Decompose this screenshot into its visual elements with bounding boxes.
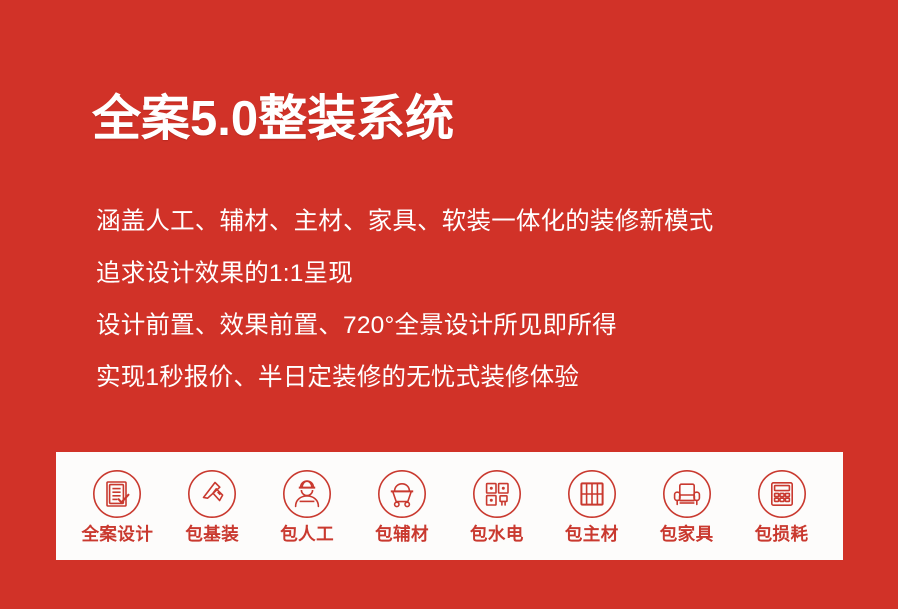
calculator-icon [756, 468, 808, 520]
feature-label: 包家具 [660, 524, 714, 544]
worker-helmet-icon [281, 468, 333, 520]
feature-item-wastage[interactable]: 包损耗 [734, 452, 829, 560]
hero-line-2: 追求设计效果的1:1呈现 [96, 248, 836, 300]
feature-label: 全案设计 [81, 524, 153, 544]
feature-item-base-decoration[interactable]: 包基装 [165, 452, 260, 560]
feature-item-full-design[interactable]: 全案设计 [70, 452, 165, 560]
feature-item-auxiliary-materials[interactable]: 包辅材 [355, 452, 450, 560]
feature-label: 包水电 [470, 524, 524, 544]
feature-label: 包损耗 [755, 524, 809, 544]
trowel-icon [186, 468, 238, 520]
feature-item-furniture[interactable]: 包家具 [639, 452, 734, 560]
feature-label: 包辅材 [375, 524, 429, 544]
hero-line-1: 涵盖人工、辅材、主材、家具、软装一体化的装修新模式 [96, 196, 836, 248]
armchair-icon [661, 468, 713, 520]
feature-label: 包基装 [185, 524, 239, 544]
hero-line-4: 实现1秒报价、半日定装修的无忧式装修体验 [96, 352, 836, 404]
material-cart-icon [376, 468, 428, 520]
feature-strip: 全案设计 包基装 [56, 452, 843, 560]
feature-label: 包人工 [280, 524, 334, 544]
hero-line-3: 设计前置、效果前置、720°全景设计所见即所得 [96, 300, 836, 352]
panel-grid-icon [566, 468, 618, 520]
feature-item-plumbing-electric[interactable]: 包水电 [450, 452, 545, 560]
hero-description: 涵盖人工、辅材、主材、家具、软装一体化的装修新模式 追求设计效果的1:1呈现 设… [96, 196, 836, 404]
feature-label: 包主材 [565, 524, 619, 544]
promo-poster: 全案5.0整装系统 涵盖人工、辅材、主材、家具、软装一体化的装修新模式 追求设计… [0, 0, 898, 609]
feature-item-labor[interactable]: 包人工 [260, 452, 355, 560]
feature-item-main-materials[interactable]: 包主材 [544, 452, 639, 560]
outlet-plug-icon [471, 468, 523, 520]
document-check-icon [91, 468, 143, 520]
page-title: 全案5.0整装系统 [92, 88, 454, 150]
